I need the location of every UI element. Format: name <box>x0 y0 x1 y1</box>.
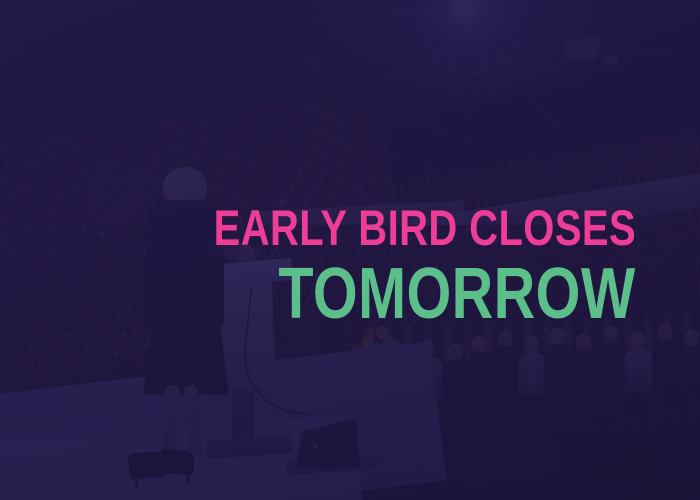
headline-line-2: TOMORROW <box>279 258 636 330</box>
headline-line-1: EARLY BIRD CLOSES <box>214 203 636 253</box>
promo-banner: EARLY BIRD CLOSES TOMORROW <box>0 0 700 500</box>
headline-block: EARLY BIRD CLOSES TOMORROW <box>0 0 700 500</box>
